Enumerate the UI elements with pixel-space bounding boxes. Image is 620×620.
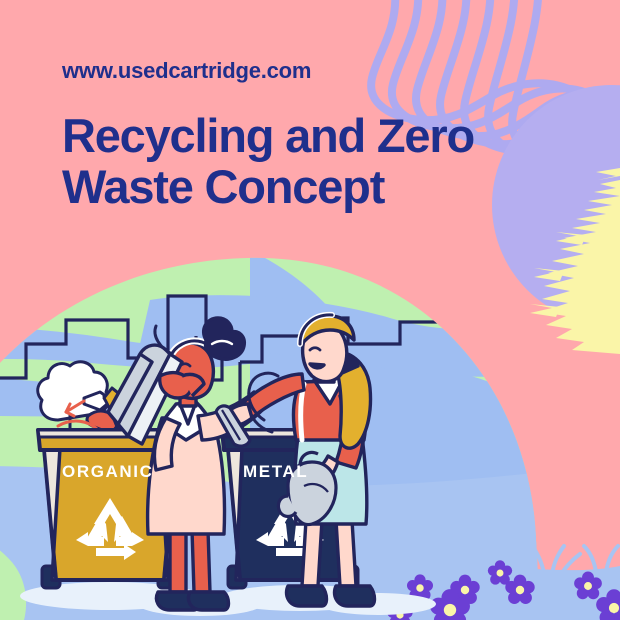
poster-illustration [0,0,620,620]
poster-canvas: www.usedcartridge.com Recycling and Zero… [0,0,620,620]
